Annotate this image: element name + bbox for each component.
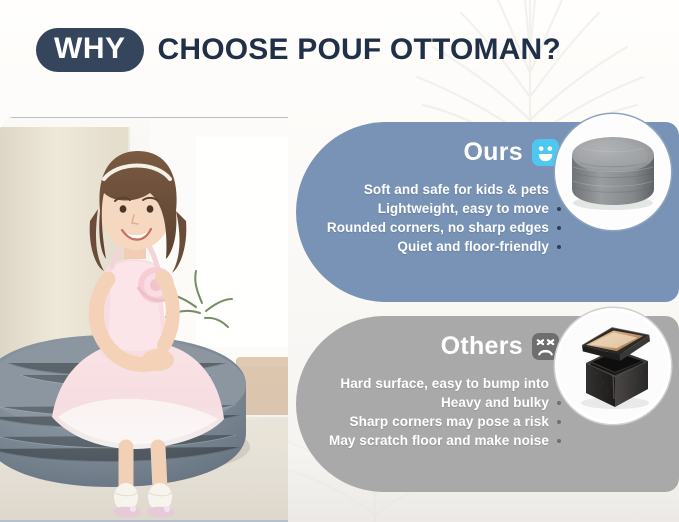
storage-ottoman-box-illustration: [558, 311, 668, 421]
list-item: Lightweight, easy to move: [327, 201, 561, 216]
bullet-list-ours: Soft and safe for kids & pets Lightweigh…: [327, 182, 561, 254]
product-thumbnail-ours: [558, 117, 668, 227]
panel-title-others: Others: [441, 332, 559, 361]
product-thumbnail-others: [558, 311, 668, 421]
bullet-dot-icon: [557, 245, 561, 249]
bullet-text: May scratch floor and make noise: [329, 433, 549, 448]
why-badge: WHY: [36, 28, 144, 72]
panel-title-ours: Ours: [463, 138, 559, 167]
list-item: Heavy and bulky: [329, 395, 561, 410]
list-item: Sharp corners may pose a risk: [329, 414, 561, 429]
list-item: Rounded corners, no sharp edges: [327, 220, 561, 235]
bullet-text: Hard surface, easy to bump into: [340, 376, 549, 391]
panel-title-text-ours: Ours: [463, 138, 523, 167]
bullet-text: Lightweight, easy to move: [378, 201, 549, 216]
bullet-text: Heavy and bulky: [441, 395, 549, 410]
lifestyle-photo: [0, 117, 288, 522]
list-item: Quiet and floor-friendly: [327, 239, 561, 254]
bullet-dot-icon: [557, 439, 561, 443]
page-header: WHY CHOOSE POUF OTTOMAN?: [0, 20, 679, 80]
bullet-text: Sharp corners may pose a risk: [350, 414, 550, 429]
list-item: May scratch floor and make noise: [329, 433, 561, 448]
smiling-face-icon: [532, 139, 559, 166]
bullet-text: Rounded corners, no sharp edges: [327, 220, 549, 235]
list-item: Soft and safe for kids & pets: [327, 182, 561, 197]
bullet-text: Quiet and floor-friendly: [397, 239, 549, 254]
lifestyle-photo-illustration: [0, 117, 288, 522]
bullet-list-others: Hard surface, easy to bump into Heavy an…: [329, 376, 561, 448]
bullet-text: Soft and safe for kids & pets: [364, 182, 549, 197]
page-title: CHOOSE POUF OTTOMAN?: [158, 33, 561, 67]
list-item: Hard surface, easy to bump into: [329, 376, 561, 391]
lifestyle-photo-clip: [0, 117, 288, 522]
pouf-ottoman-illustration: [558, 117, 668, 227]
confounded-face-icon: [532, 333, 559, 360]
panel-title-text-others: Others: [441, 332, 523, 361]
